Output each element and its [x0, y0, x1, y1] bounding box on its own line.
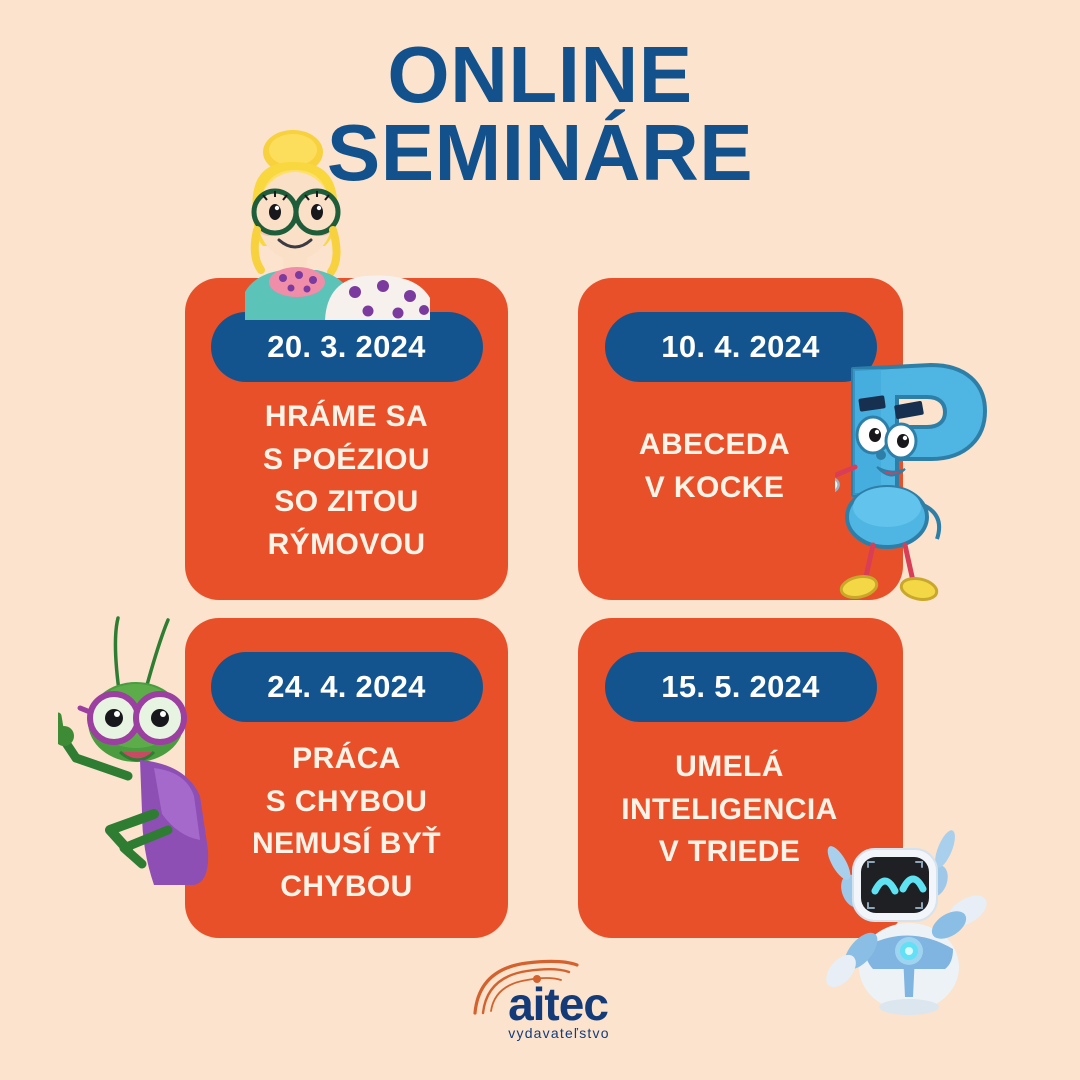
seminar-poster: ONLINE SEMINÁRE [0, 0, 1080, 1080]
date-badge: 15. 5. 2024 [605, 652, 877, 722]
aitec-logo: aitec vydavateľstvo [465, 955, 645, 1045]
seminar-title: PRÁCA S CHYBOU NEMUSÍ BYŤ CHYBOU [185, 738, 508, 908]
seminar-card[interactable]: 24. 4. 2024 PRÁCA S CHYBOU NEMUSÍ BYŤ CH… [185, 618, 508, 938]
logo-subtitle: vydavateľstvo [479, 1025, 639, 1041]
date-badge: 24. 4. 2024 [211, 652, 483, 722]
page-title: ONLINE SEMINÁRE [0, 36, 1080, 193]
green-grasshopper-with-glasses-illustration [58, 600, 233, 885]
date-badge: 20. 3. 2024 [211, 312, 483, 382]
seminar-card[interactable]: 20. 3. 2024 HRÁME SA S POÉZIOU SO ZITOU … [185, 278, 508, 600]
logo-wordmark: aitec [483, 981, 633, 1027]
seminar-title: HRÁME SA S POÉZIOU SO ZITOU RÝMOVOU [185, 396, 508, 566]
blue-white-robot-illustration [825, 815, 1025, 1015]
blue-letter-p-mascot-illustration [835, 355, 1010, 605]
